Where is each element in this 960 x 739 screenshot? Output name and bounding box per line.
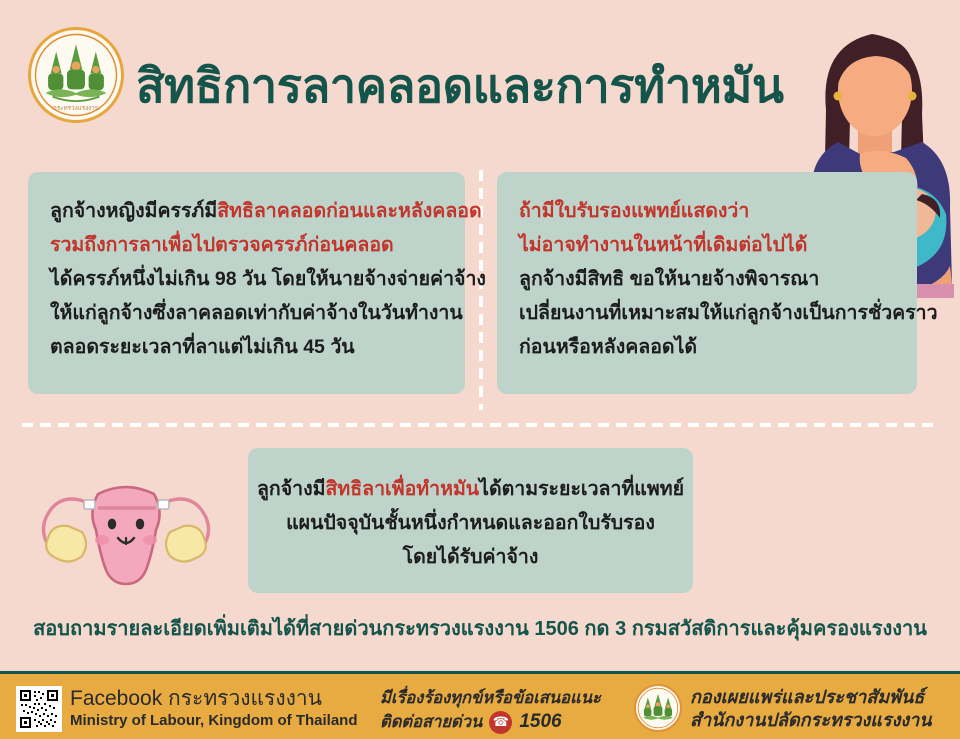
- highlighted-text-segment: สิทธิลาเพื่อทำหมัน: [326, 478, 480, 500]
- complaint-hotline-row: ติดต่อสายด่วน ☎ 1506: [380, 710, 601, 734]
- text-segment: ได้ครรภ์หนึ่งไม่เกิน 98 วัน โดยให้นายจ้า…: [50, 268, 486, 290]
- footer-bar: Facebook กระทรวงแรงงาน Ministry of Labou…: [0, 671, 960, 739]
- hotline-number: 1506: [519, 710, 561, 734]
- card-right-line-1: ถ้ามีใบรับรองแพทย์แสดงว่า: [519, 194, 917, 228]
- card-bottom-line-1: ลูกจ้างมีสิทธิลาเพื่อทำหมันได้ตามระยะเวล…: [248, 472, 693, 506]
- ministry-of-labour-seal-small: [634, 684, 682, 732]
- text-segment: เปลี่ยนงานที่เหมาะสมให้แก่ลูกจ้างเป็นการ…: [519, 302, 938, 324]
- department-info: กองเผยแพร่และประชาสัมพันธ์ สำนักงานปลัดก…: [690, 686, 932, 732]
- complaint-prompt: มีเรื่องร้องทุกข์หรือข้อเสนอแนะ: [380, 686, 601, 710]
- facebook-qr-code[interactable]: [16, 686, 62, 732]
- text-segment: ลูกจ้างมี: [257, 478, 326, 500]
- card-maternity-leave: ลูกจ้างหญิงมีครรภ์มีสิทธิลาคลอดก่อนและหล…: [28, 172, 465, 394]
- card-right-line-4: เปลี่ยนงานที่เหมาะสมให้แก่ลูกจ้างเป็นการ…: [519, 296, 917, 330]
- card-left-line-4: ให้แก่ลูกจ้างซึ่งลาคลอดเท่ากับค่าจ้างในว…: [50, 296, 465, 330]
- complaint-hotline-label: ติดต่อสายด่วน: [380, 710, 482, 734]
- card-left-line-1: ลูกจ้างหญิงมีครรภ์มีสิทธิลาคลอดก่อนและหล…: [50, 194, 465, 228]
- text-segment: ให้แก่ลูกจ้างซึ่งลาคลอดเท่ากับค่าจ้างในว…: [50, 302, 463, 324]
- card-left-line-3: ได้ครรภ์หนึ่งไม่เกิน 98 วัน โดยให้นายจ้า…: [50, 262, 465, 296]
- card-sterilization-leave: ลูกจ้างมีสิทธิลาเพื่อทำหมันได้ตามระยะเวล…: [248, 448, 693, 593]
- card-bottom-line-2: แผนปัจจุบันชั้นหนึ่งกำหนดและออกใบรับรอง: [248, 506, 693, 540]
- card-right-line-5: ก่อนหรือหลังคลอดได้: [519, 330, 917, 364]
- highlighted-text-segment: สิทธิลาคลอดก่อนและหลังคลอด: [217, 200, 481, 222]
- card-job-change-rights: ถ้ามีใบรับรองแพทย์แสดงว่า ไม่อาจทำงานในห…: [497, 172, 917, 394]
- text-segment: ก่อนหรือหลังคลอดได้: [519, 336, 697, 358]
- hotline-info-text: สอบถามรายละเอียดเพิ่มเติมได้ที่สายด่วนกร…: [0, 612, 960, 644]
- card-left-line-5: ตลอดระยะเวลาที่ลาแต่ไม่เกิน 45 วัน: [50, 330, 465, 364]
- card-right-line-3: ลูกจ้างมีสิทธิ ขอให้นายจ้างพิจารณา: [519, 262, 917, 296]
- card-left-line-2: รวมถึงการลาเพื่อไปตรวจครรภ์ก่อนคลอด: [50, 228, 465, 262]
- department-name-line1: กองเผยแพร่และประชาสัมพันธ์: [690, 686, 932, 709]
- facebook-info[interactable]: Facebook กระทรวงแรงงาน Ministry of Labou…: [70, 687, 358, 731]
- horizontal-dashed-divider: [22, 423, 938, 427]
- facebook-page-name-en: Ministry of Labour, Kingdom of Thailand: [70, 711, 358, 731]
- text-segment: ลูกจ้างหญิงมีครรภ์มี: [50, 200, 217, 222]
- text-segment: แผนปัจจุบันชั้นหนึ่งกำหนดและออกใบรับรอง: [286, 512, 655, 534]
- card-right-line-2: ไม่อาจทำงานในหน้าที่เดิมต่อไปได้: [519, 228, 917, 262]
- complaint-info: มีเรื่องร้องทุกข์หรือข้อเสนอแนะ ติดต่อสา…: [380, 686, 601, 734]
- uterus-tubal-ligation-illustration: [28, 468, 224, 592]
- text-segment: ได้ตามระยะเวลาที่แพทย์: [479, 478, 684, 500]
- highlighted-text-segment: ถ้ามีใบรับรองแพทย์แสดงว่า: [519, 200, 749, 222]
- department-name-line2: สำนักงานปลัดกระทรวงแรงงาน: [690, 709, 932, 732]
- highlighted-text-segment: ไม่อาจทำงานในหน้าที่เดิมต่อไปได้: [519, 234, 807, 256]
- text-segment: ตลอดระยะเวลาที่ลาแต่ไม่เกิน 45 วัน: [50, 336, 355, 358]
- highlighted-text-segment: รวมถึงการลาเพื่อไปตรวจครรภ์ก่อนคลอด: [50, 234, 394, 256]
- facebook-page-name-th: Facebook กระทรวงแรงงาน: [70, 687, 358, 711]
- text-segment: โดยได้รับค่าจ้าง: [403, 546, 539, 568]
- phone-icon: ☎: [489, 711, 512, 734]
- ministry-of-labour-seal: กระทรวงแรงงาน: [28, 27, 124, 123]
- page-title: สิทธิการลาคลอดและการทำหมัน: [136, 48, 784, 123]
- header: กระทรวงแรงงาน สิทธิการลาคลอดและการทำหมัน: [0, 0, 960, 152]
- svg-text:กระทรวงแรงงาน: กระทรวงแรงงาน: [53, 105, 100, 112]
- infographic-poster: กระทรวงแรงงาน สิทธิการลาคลอดและการทำหมัน: [0, 0, 960, 739]
- text-segment: ลูกจ้างมีสิทธิ ขอให้นายจ้างพิจารณา: [519, 268, 819, 290]
- card-bottom-line-3: โดยได้รับค่าจ้าง: [248, 540, 693, 574]
